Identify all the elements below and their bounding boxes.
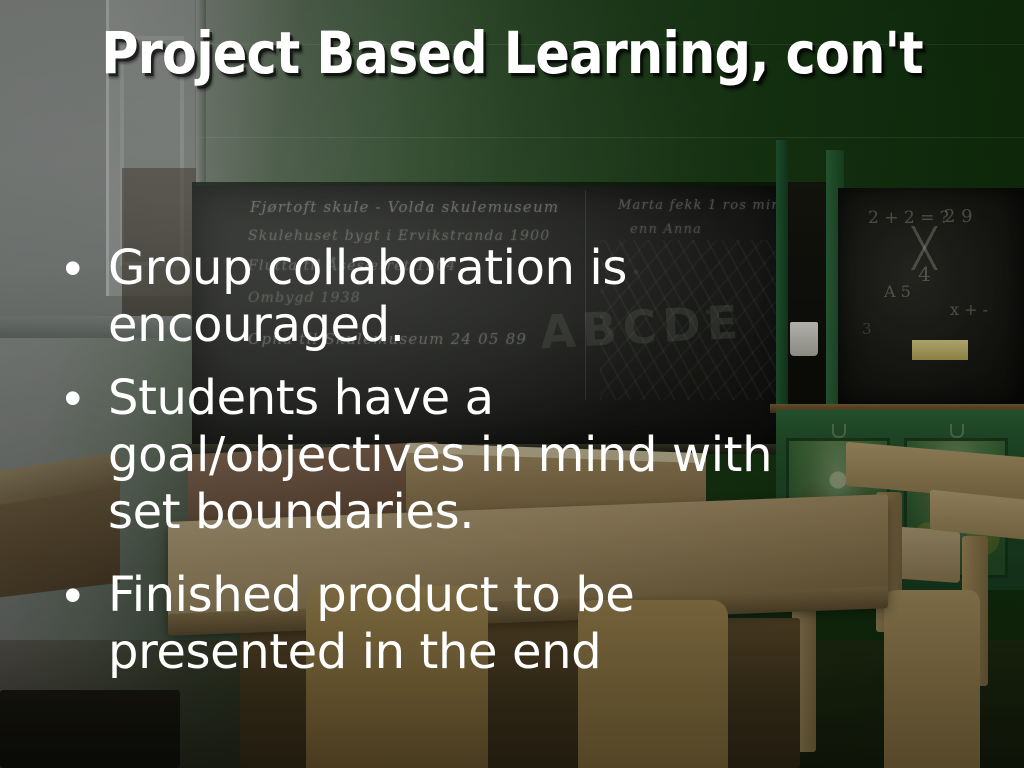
bullet-text: Group collaboration is encouraged. <box>108 240 708 354</box>
slide-content: Project Based Learning, con't • Group co… <box>0 0 1024 768</box>
bullet-marker: • <box>52 567 108 624</box>
slide-title: Project Based Learning, con't <box>61 24 962 82</box>
bullet-text: Students have a goal/objectives in mind … <box>108 370 853 541</box>
list-item: • Students have a goal/objectives in min… <box>52 370 952 541</box>
list-item: • Finished product to be presented in th… <box>52 567 952 681</box>
bullet-list: • Group collaboration is encouraged. • S… <box>52 240 952 697</box>
bullet-text: Finished product to be presented in the … <box>108 567 728 681</box>
bullet-marker: • <box>52 240 108 297</box>
list-item: • Group collaboration is encouraged. <box>52 240 952 354</box>
presentation-slide: Fjørtoft skule - Volda skulemuseum Skule… <box>0 0 1024 768</box>
bullet-marker: • <box>52 370 108 427</box>
